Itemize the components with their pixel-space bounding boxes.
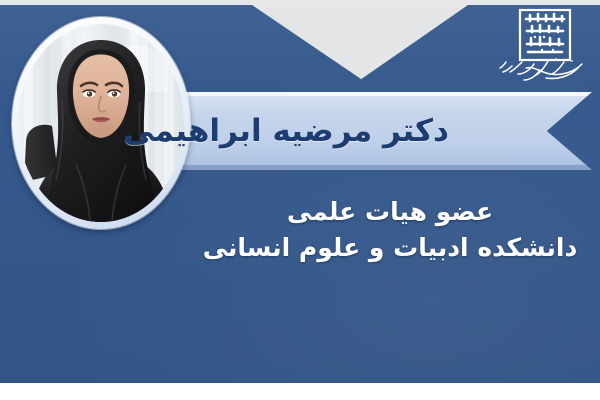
subtitle-block: عضو هیات علمی دانشکده ادبیات و علوم انسا… bbox=[190, 196, 590, 264]
subtitle-line-1: عضو هیات علمی bbox=[190, 196, 590, 228]
bottom-white-band bbox=[0, 383, 600, 400]
faculty-name-title: دکتر مرضیه ابراهیمی bbox=[20, 92, 552, 170]
shahid-beheshti-logo-icon bbox=[482, 6, 590, 88]
subtitle-line-2: دانشکده ادبیات و علوم انسانی bbox=[190, 232, 590, 264]
faculty-profile-card: دکتر مرضیه ابراهیمی bbox=[0, 0, 600, 400]
university-logo[interactable] bbox=[482, 6, 590, 88]
